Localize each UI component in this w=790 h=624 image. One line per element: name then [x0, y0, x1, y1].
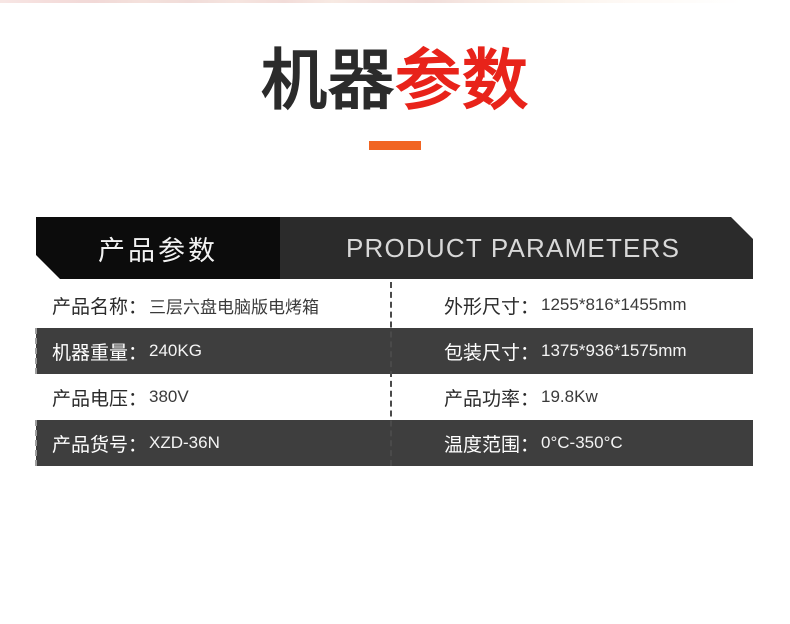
spec-key: 产品电压：	[52, 384, 147, 411]
spec-key: 包装尺寸：	[444, 338, 539, 365]
spec-value: 380V	[149, 387, 189, 407]
product-parameters-panel: 产品参数 PRODUCT PARAMETERS 产品名称： 三层六盘电脑版电烤箱…	[36, 217, 753, 466]
table-row: 机器重量： 240KG 包装尺寸： 1375*936*1575mm	[36, 328, 753, 374]
panel-header: 产品参数 PRODUCT PARAMETERS	[36, 217, 753, 279]
spec-cell-left: 产品货号： XZD-36N	[36, 420, 390, 466]
spec-key: 外形尺寸：	[444, 292, 539, 319]
spec-value: XZD-36N	[149, 433, 220, 453]
spec-cell-left: 产品电压： 380V	[36, 374, 390, 420]
panel-header-cn-label: 产品参数	[98, 229, 218, 268]
page-title-accent: 参数	[395, 42, 529, 119]
table-row: 产品货号： XZD-36N 温度范围： 0°C-350°C	[36, 420, 753, 466]
spec-cell-left: 产品名称： 三层六盘电脑版电烤箱	[36, 282, 390, 328]
spec-cell-left: 机器重量： 240KG	[36, 328, 390, 374]
column-divider-dark-seg-1	[35, 328, 37, 374]
spec-value: 0°C-350°C	[541, 433, 623, 453]
spec-value: 1255*816*1455mm	[541, 295, 687, 315]
table-row: 产品电压： 380V 产品功率： 19.8Kw	[36, 374, 753, 420]
spec-key: 产品名称：	[52, 292, 147, 319]
page-title-main: 机器	[261, 42, 395, 119]
page-title-block: 机器参数	[0, 48, 790, 150]
spec-cell-right: 温度范围： 0°C-350°C	[390, 420, 744, 466]
spec-key: 温度范围：	[444, 430, 539, 457]
page-title: 机器参数	[0, 48, 790, 114]
spec-key: 产品货号：	[52, 430, 147, 457]
spec-key: 产品功率：	[444, 384, 539, 411]
spec-table: 产品名称： 三层六盘电脑版电烤箱 外形尺寸： 1255*816*1455mm 机…	[36, 282, 753, 466]
spec-value: 19.8Kw	[541, 387, 598, 407]
table-row: 产品名称： 三层六盘电脑版电烤箱 外形尺寸： 1255*816*1455mm	[36, 282, 753, 328]
image-seam-strip	[0, 0, 790, 3]
spec-cell-right: 包装尺寸： 1375*936*1575mm	[390, 328, 744, 374]
spec-value: 1375*936*1575mm	[541, 341, 687, 361]
spec-cell-right: 产品功率： 19.8Kw	[390, 374, 744, 420]
spec-value: 240KG	[149, 341, 202, 361]
spec-key: 机器重量：	[52, 338, 147, 365]
spec-cell-right: 外形尺寸： 1255*816*1455mm	[390, 282, 744, 328]
panel-header-en-label: PRODUCT PARAMETERS	[280, 233, 680, 264]
panel-header-cn: 产品参数	[36, 217, 280, 279]
spec-value: 三层六盘电脑版电烤箱	[149, 293, 319, 318]
column-divider-dark-seg-2	[35, 420, 37, 466]
panel-header-en: PRODUCT PARAMETERS	[280, 217, 753, 279]
title-underline-rule	[369, 141, 421, 150]
